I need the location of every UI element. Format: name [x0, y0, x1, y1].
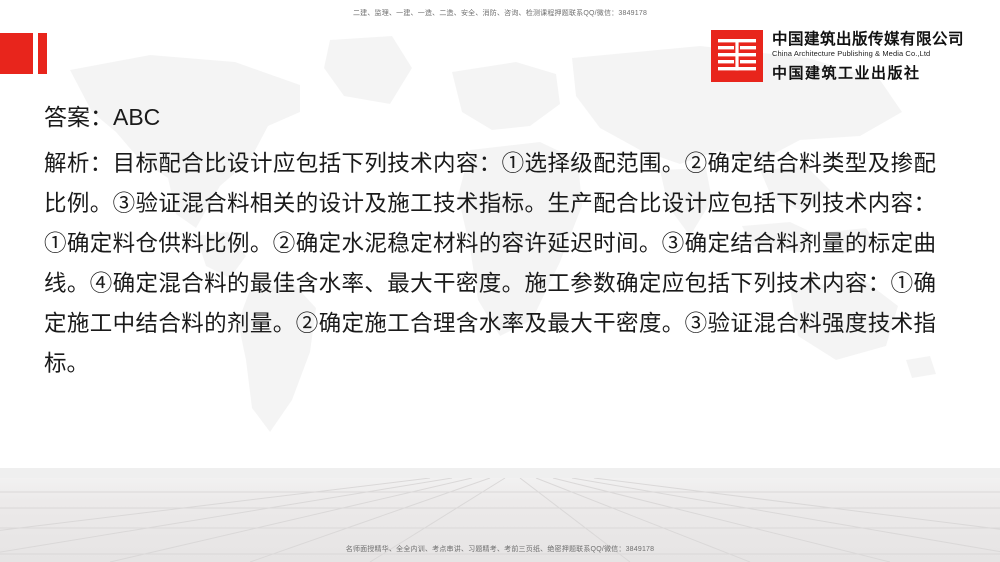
answer-label: 答案： [44, 104, 113, 130]
answer-line: 答案：ABC [44, 100, 936, 135]
slide-root: 二建、监理、一建、一造、二造、安全、消防、咨询、检测课程押题联系QQ/微信：38… [0, 0, 1000, 562]
analysis-text: 目标配合比设计应包括下列技术内容：①选择级配范围。②确定结合料类型及掺配比例。③… [44, 151, 936, 376]
publisher-company-cn: 中国建筑出版传媒有限公司 [772, 31, 964, 49]
publisher-logo: 中国建筑出版传媒有限公司 China Architecture Publishi… [711, 30, 964, 83]
publisher-logo-text: 中国建筑出版传媒有限公司 China Architecture Publishi… [772, 30, 964, 83]
analysis-label: 解析： [44, 151, 113, 176]
accent-red-bar [38, 33, 47, 74]
slide-content: 答案：ABC 解析：目标配合比设计应包括下列技术内容：①选择级配范围。②确定结合… [44, 100, 936, 384]
publisher-imprint-cn: 中国建筑工业出版社 [772, 62, 964, 83]
top-contact-note: 二建、监理、一建、一造、二造、安全、消防、咨询、检测课程押题联系QQ/微信：38… [0, 8, 1000, 18]
answer-value: ABC [113, 104, 160, 130]
floor-top-band [0, 468, 1000, 478]
analysis-block: 解析：目标配合比设计应包括下列技术内容：①选择级配范围。②确定结合料类型及掺配比… [44, 144, 936, 384]
accent-red-block [0, 33, 33, 74]
publisher-company-en: China Architecture Publishing & Media Co… [772, 49, 964, 60]
bottom-contact-note: 名师面授精华、全全内训、考点串讲、习题精考、考前三页纸、绝密押题联系QQ/微信：… [0, 544, 1000, 554]
publisher-logo-icon [711, 30, 763, 82]
